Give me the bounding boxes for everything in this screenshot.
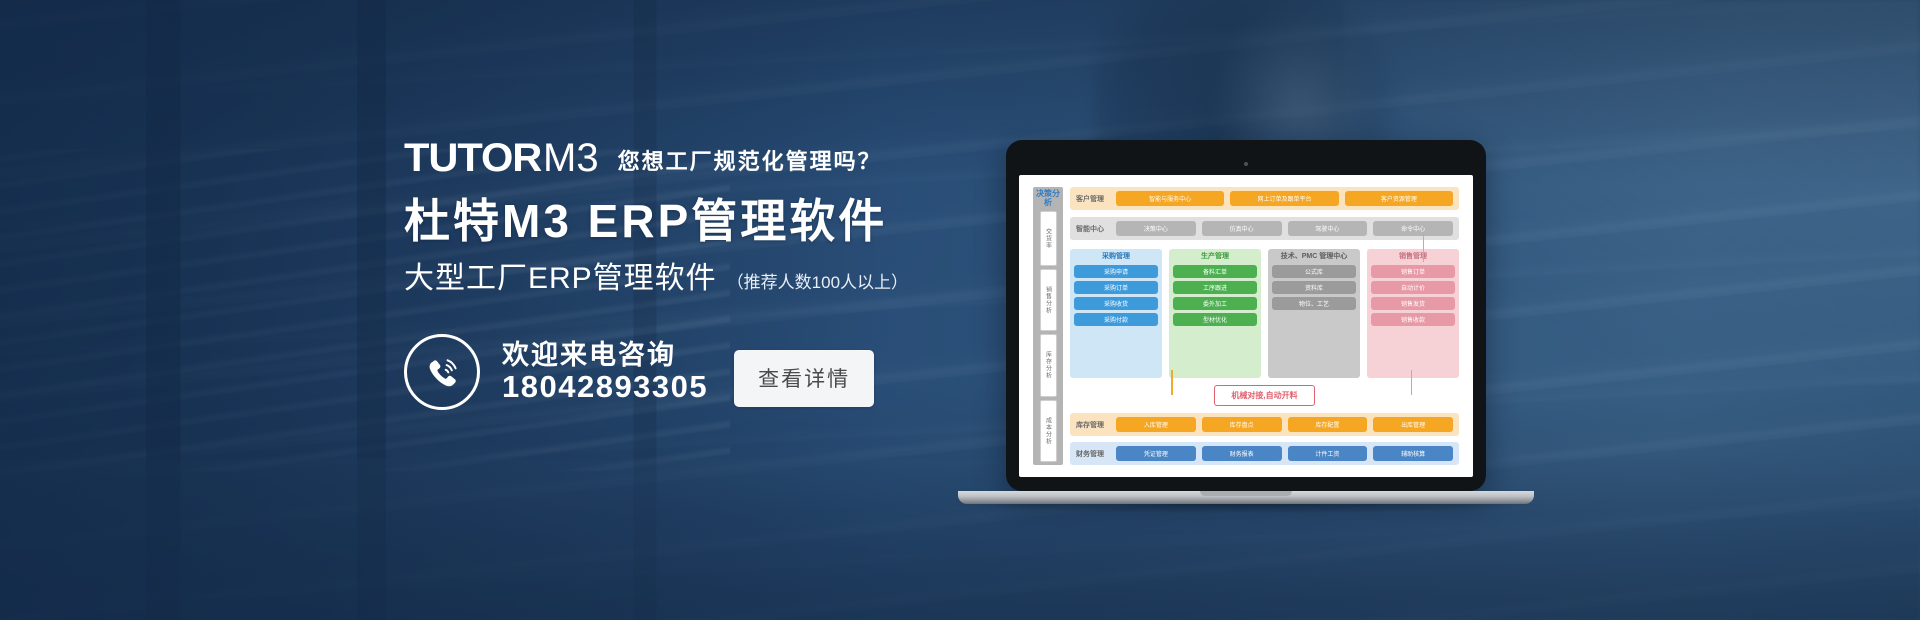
column-item: 工序跟进 <box>1173 281 1257 294</box>
column-item: 采购申请 <box>1074 265 1158 278</box>
column-item: 自动计价 <box>1371 281 1455 294</box>
row-chip: 财务报表 <box>1202 446 1282 461</box>
column-item: 采购收货 <box>1074 297 1158 310</box>
view-details-button[interactable]: 查看详情 <box>734 350 874 407</box>
laptop-shadow <box>946 504 1546 513</box>
diagram-highlight-banner: 机械对接,自动开料 <box>1214 385 1314 406</box>
logo-m3-text: M3 <box>543 138 599 178</box>
column-title: 生产管理 <box>1173 253 1257 261</box>
row-chip: 命令中心 <box>1373 221 1453 236</box>
contact-text: 欢迎来电咨询 18042893305 <box>502 341 708 404</box>
row-chip: 客户资源管理 <box>1345 191 1453 206</box>
connector-arrow <box>1171 370 1173 395</box>
diagram-column-tech-pmc: 技术、PMC 管理中心 公式库 资料库 物位、工艺 <box>1268 249 1360 378</box>
row-label: 客户管理 <box>1076 194 1110 204</box>
column-item: 物位、工艺 <box>1272 297 1356 310</box>
row-chip: 智能与服务中心 <box>1116 191 1224 206</box>
row-label: 智能中心 <box>1076 224 1110 234</box>
hero-subtitle-main: 大型工厂ERP管理软件 <box>404 264 717 294</box>
column-title: 技术、PMC 管理中心 <box>1272 253 1356 261</box>
row-label: 财务管理 <box>1076 449 1110 459</box>
contact-welcome-label: 欢迎来电咨询 <box>502 341 708 369</box>
row-chip: 库存盘点 <box>1202 417 1282 432</box>
diagram-sidebar: 决策分析 交货率 销售分析 库存分析 成本分析 <box>1033 187 1063 465</box>
hero-subtitle-note: （推荐人数100人以上） <box>727 274 908 291</box>
webcam-icon <box>1244 162 1248 166</box>
column-item: 销售订单 <box>1371 265 1455 278</box>
column-item: 销售收款 <box>1371 313 1455 326</box>
column-item: 采购付款 <box>1074 313 1158 326</box>
laptop-lid: 决策分析 交货率 销售分析 库存分析 成本分析 客户管理 智能与服务 <box>1006 140 1486 491</box>
column-item: 销售发货 <box>1371 297 1455 310</box>
brand-tagline: 您想工厂规范化管理吗？ <box>618 151 882 173</box>
diagram-sidebar-item: 库存分析 <box>1040 334 1057 396</box>
column-item: 型材优化 <box>1173 313 1257 326</box>
diagram-module-columns: 采购管理 采购申请 采购订单 采购收货 采购付款 生产管理 备料汇单 工序跟进 … <box>1070 249 1459 378</box>
erp-architecture-diagram: 决策分析 交货率 销售分析 库存分析 成本分析 客户管理 智能与服务 <box>1033 187 1459 465</box>
row-chip: 仿真中心 <box>1202 221 1282 236</box>
row-chip: 入库管理 <box>1116 417 1196 432</box>
diagram-sidebar-item: 成本分析 <box>1040 400 1057 462</box>
diagram-sidebar-item: 销售分析 <box>1040 269 1057 331</box>
row-chip: 计件工资 <box>1288 446 1368 461</box>
diagram-sidebar-title: 决策分析 <box>1036 190 1060 208</box>
column-item: 委外加工 <box>1173 297 1257 310</box>
diagram-row-smart-center: 智能中心 决策中心 仿真中心 驾驶中心 命令中心 <box>1070 217 1459 240</box>
laptop-base <box>958 491 1534 504</box>
laptop-mockup: 决策分析 交货率 销售分析 库存分析 成本分析 客户管理 智能与服务 <box>1006 140 1486 513</box>
contact-phone-number: 18042893305 <box>502 371 708 404</box>
row-chip: 辅助核算 <box>1373 446 1453 461</box>
column-title: 采购管理 <box>1074 253 1158 261</box>
row-chip: 凭证管理 <box>1116 446 1196 461</box>
column-title: 销售管理 <box>1371 253 1455 261</box>
connector-arrow <box>1423 234 1425 262</box>
column-item: 备料汇单 <box>1173 265 1257 278</box>
diagram-column-production: 生产管理 备料汇单 工序跟进 委外加工 型材优化 <box>1169 249 1261 378</box>
row-label: 库存管理 <box>1076 420 1110 430</box>
diagram-main: 客户管理 智能与服务中心 网上订单及跟单平台 客户资源管理 智能中心 决策中心 … <box>1070 187 1459 465</box>
row-chip: 出库管理 <box>1373 417 1453 432</box>
phone-icon <box>404 334 480 410</box>
laptop-screen: 决策分析 交货率 销售分析 库存分析 成本分析 客户管理 智能与服务 <box>1019 175 1473 477</box>
diagram-sidebar-item: 交货率 <box>1040 211 1057 266</box>
logo-tutor-text: TUTOR <box>404 138 541 178</box>
row-chip: 库存配置 <box>1288 417 1368 432</box>
diagram-row-stock: 库存管理 入库管理 库存盘点 库存配置 出库管理 <box>1070 413 1459 436</box>
row-chip: 网上订单及跟单平台 <box>1230 191 1338 206</box>
diagram-row-finance: 财务管理 凭证管理 财务报表 计件工资 辅助核算 <box>1070 442 1459 465</box>
column-item: 资料库 <box>1272 281 1356 294</box>
row-chip: 驾驶中心 <box>1288 221 1368 236</box>
column-item: 公式库 <box>1272 265 1356 278</box>
diagram-column-purchase: 采购管理 采购申请 采购订单 采购收货 采购付款 <box>1070 249 1162 378</box>
connector-arrow <box>1411 370 1413 395</box>
hero-banner: TUTOR M3 您想工厂规范化管理吗？ 杜特M3 ERP管理软件 大型工厂ER… <box>0 0 1920 620</box>
row-chip: 决策中心 <box>1116 221 1196 236</box>
diagram-row-customer: 客户管理 智能与服务中心 网上订单及跟单平台 客户资源管理 <box>1070 187 1459 210</box>
column-item: 采购订单 <box>1074 281 1158 294</box>
diagram-column-sales: 销售管理 销售订单 自动计价 销售发货 销售收款 <box>1367 249 1459 378</box>
